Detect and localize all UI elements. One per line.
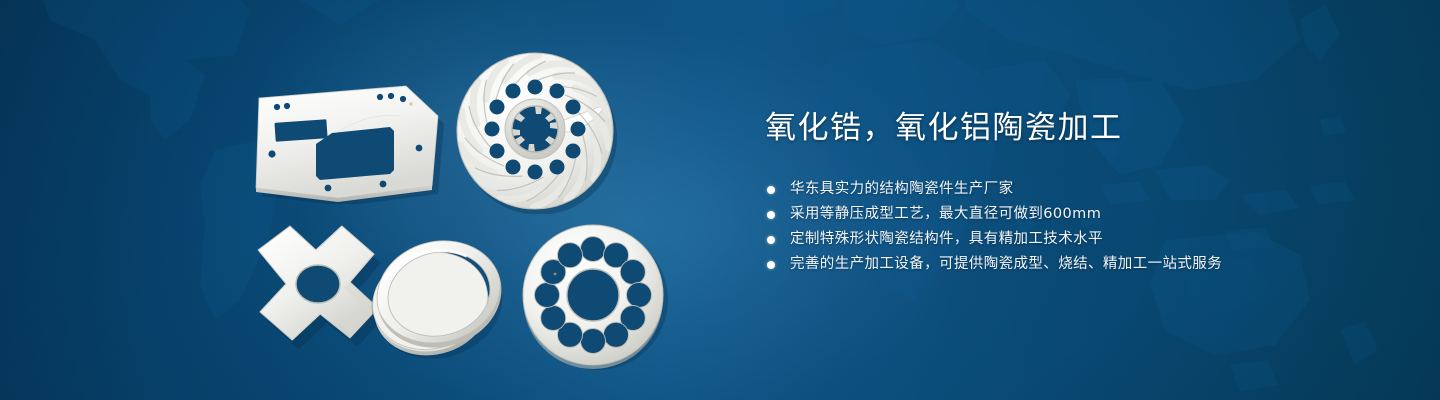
ceramic-ring-image <box>355 222 515 362</box>
bullet-dot-icon <box>767 261 775 269</box>
list-item-label: 定制特殊形状陶瓷结构件，具有精加工技术水平 <box>790 231 1103 247</box>
list-item: 定制特殊形状陶瓷结构件，具有精加工技术水平 <box>765 227 1385 252</box>
list-item-label: 采用等静压成型工艺，最大直径可做到600mm <box>790 206 1101 222</box>
list-item: 完善的生产加工设备，可提供陶瓷成型、烧结、精加工一站式服务 <box>765 252 1385 277</box>
banner-title: 氧化锆，氧化铝陶瓷加工 <box>765 108 1385 148</box>
ceramic-plate-image <box>248 78 448 204</box>
hero-banner: 氧化锆，氧化铝陶瓷加工 华东具实力的结构陶瓷件生产厂家 采用等静压成型工艺，最大… <box>0 0 1440 400</box>
banner-copy: 氧化锆，氧化铝陶瓷加工 华东具实力的结构陶瓷件生产厂家 采用等静压成型工艺，最大… <box>765 108 1385 277</box>
ceramic-impeller-image <box>447 48 623 214</box>
ceramic-disc-image <box>518 222 670 370</box>
banner-feature-list: 华东具实力的结构陶瓷件生产厂家 采用等静压成型工艺，最大直径可做到600mm 定… <box>765 177 1385 277</box>
bullet-dot-icon <box>767 186 775 194</box>
bullet-dot-icon <box>767 211 775 219</box>
list-item-label: 华东具实力的结构陶瓷件生产厂家 <box>790 181 1014 197</box>
list-item: 华东具实力的结构陶瓷件生产厂家 <box>765 177 1385 202</box>
bullet-dot-icon <box>767 236 775 244</box>
list-item-label: 完善的生产加工设备，可提供陶瓷成型、烧结、精加工一站式服务 <box>790 256 1222 272</box>
list-item: 采用等静压成型工艺，最大直径可做到600mm <box>765 202 1385 227</box>
